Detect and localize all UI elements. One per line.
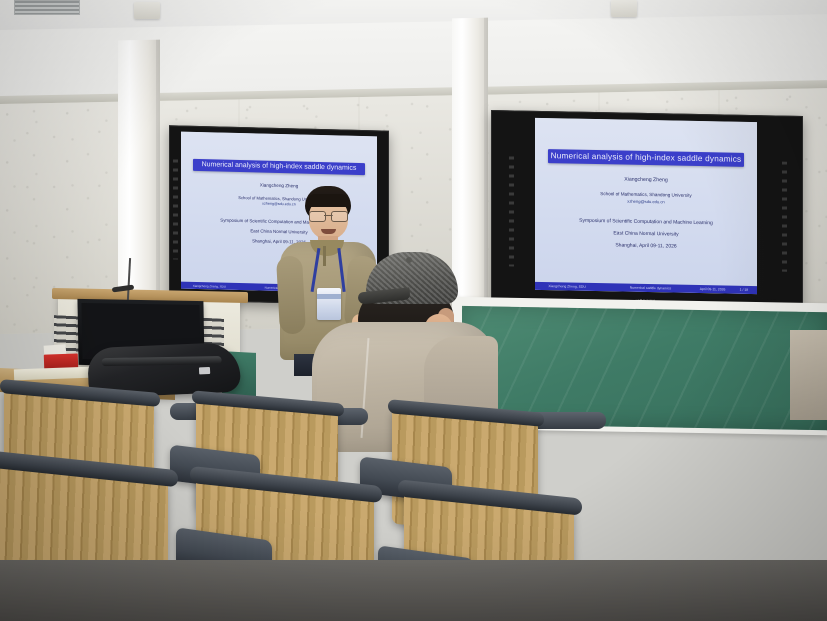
slide-event: Symposium of Scientific Computation and … [579, 217, 713, 226]
presenter-left-arm [276, 255, 306, 334]
cap-button [406, 257, 412, 263]
slide-affiliation: School of Mathematics, Shandong Universi… [600, 191, 691, 198]
footer-author: Xiangcheng Zheng, SDU [535, 284, 615, 290]
display-port-strip [173, 159, 178, 259]
lecture-hall-photo: Numerical analysis of high-index saddle … [0, 0, 827, 621]
eyeglasses-icon [309, 211, 348, 220]
floor [0, 560, 827, 621]
right-projection-display[interactable]: Numerical analysis of high-index saddle … [491, 110, 803, 308]
slide-title-bar: Numerical analysis of high-index saddle … [548, 149, 743, 167]
display-port-strip-left [509, 156, 514, 266]
audience-member-edge [790, 330, 827, 420]
footer-short-title: Numerical saddle dynamics [615, 285, 686, 290]
slide-right: Numerical analysis of high-index saddle … [535, 118, 757, 294]
slide-email: xzheng@sdu.edu.cn [627, 198, 664, 204]
slide-author: Xiangcheng Zheng [624, 177, 668, 184]
slide-venue: East China Normal University [613, 230, 678, 237]
backpack-strap [102, 356, 222, 366]
slide-date: Shanghai, April 09-11, 2026 [615, 242, 676, 249]
wall-mounted-loudspeaker [611, 0, 637, 17]
footer-author: Xiangcheng Zheng, SDU [181, 283, 252, 289]
footer-date: April 09-11, 2026 [686, 287, 739, 292]
footer-page-number: 1 / 18 [739, 288, 757, 292]
ceiling-air-vent [14, 0, 80, 15]
slide-title: Numerical analysis of high-index saddle … [548, 149, 743, 167]
slide-title-bar: Numerical analysis of high-index saddle … [193, 159, 365, 175]
backpack-label-tag [199, 367, 210, 374]
wall-mounted-loudspeaker [134, 2, 160, 19]
slide-title: Numerical analysis of high-index saddle … [193, 159, 365, 175]
right-screen-surface: Numerical analysis of high-index saddle … [535, 118, 757, 294]
presenter-fringe [306, 194, 350, 207]
display-port-strip-right [782, 162, 787, 272]
